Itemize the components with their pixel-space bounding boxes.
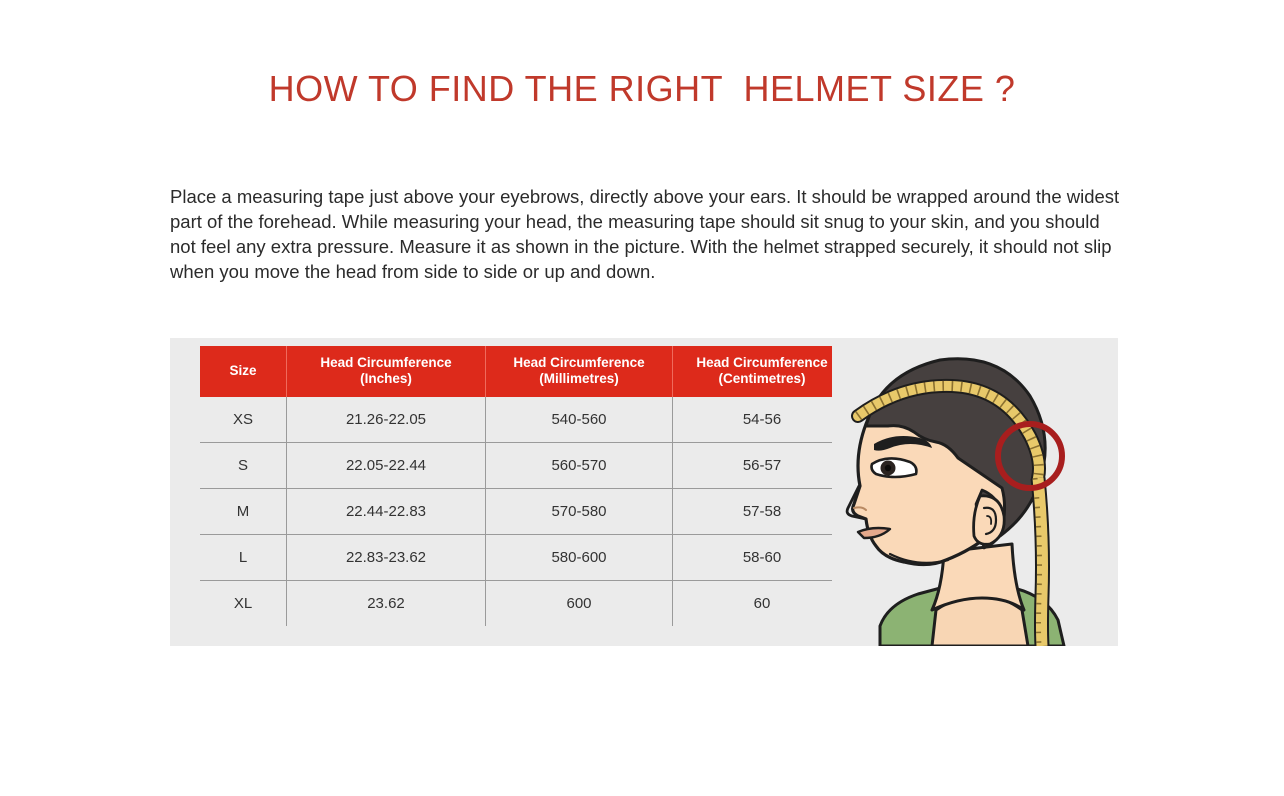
cell-centimetres: 58-60 [673,535,852,581]
table-header-row: Size Head Circumference (Inches) Head Ci… [200,346,851,397]
instructions-paragraph: Place a measuring tape just above your e… [170,184,1120,284]
table-row: S 22.05-22.44 560-570 56-57 [200,443,851,489]
page-title: HOW TO FIND THE RIGHT HELMET SIZE ? [0,68,1284,110]
cell-centimetres: 54-56 [673,397,852,443]
cell-millimetres: 600 [486,581,673,627]
column-header-centimetres: Head Circumference (Centimetres) [673,346,852,397]
table-row: XS 21.26-22.05 540-560 54-56 [200,397,851,443]
cell-inches: 22.44-22.83 [287,489,486,535]
size-chart-panel: Size Head Circumference (Inches) Head Ci… [170,338,1118,646]
column-header-size: Size [200,346,287,397]
column-header-inches-main: Head Circumference [320,355,451,370]
column-header-millimetres: Head Circumference (Millimetres) [486,346,673,397]
cell-inches: 22.83-23.62 [287,535,486,581]
column-header-millimetres-unit: (Millimetres) [488,371,670,387]
ear-shape [974,496,1005,545]
eye-pupil [885,465,891,471]
column-header-inches-unit: (Inches) [289,371,483,387]
column-header-centimetres-main: Head Circumference [696,355,827,370]
table-row: XL 23.62 600 60 [200,581,851,627]
cell-size: XS [200,397,287,443]
cell-size: M [200,489,287,535]
cell-millimetres: 540-560 [486,397,673,443]
cell-millimetres: 580-600 [486,535,673,581]
cell-centimetres: 60 [673,581,852,627]
head-profile-diagram [832,338,1118,646]
cell-size: L [200,535,287,581]
size-chart-table: Size Head Circumference (Inches) Head Ci… [200,346,851,626]
column-header-size-main: Size [229,363,256,378]
cell-size: S [200,443,287,489]
cell-inches: 23.62 [287,581,486,627]
column-header-centimetres-unit: (Centimetres) [675,371,849,387]
column-header-millimetres-main: Head Circumference [513,355,644,370]
cell-centimetres: 57-58 [673,489,852,535]
cell-inches: 22.05-22.44 [287,443,486,489]
table-row: L 22.83-23.62 580-600 58-60 [200,535,851,581]
cell-inches: 21.26-22.05 [287,397,486,443]
cell-millimetres: 570-580 [486,489,673,535]
measuring-tape-hanging [1035,478,1043,646]
cell-millimetres: 560-570 [486,443,673,489]
head-measurement-illustration [832,338,1118,646]
cell-size: XL [200,581,287,627]
table-row: M 22.44-22.83 570-580 57-58 [200,489,851,535]
column-header-inches: Head Circumference (Inches) [287,346,486,397]
cell-centimetres: 56-57 [673,443,852,489]
